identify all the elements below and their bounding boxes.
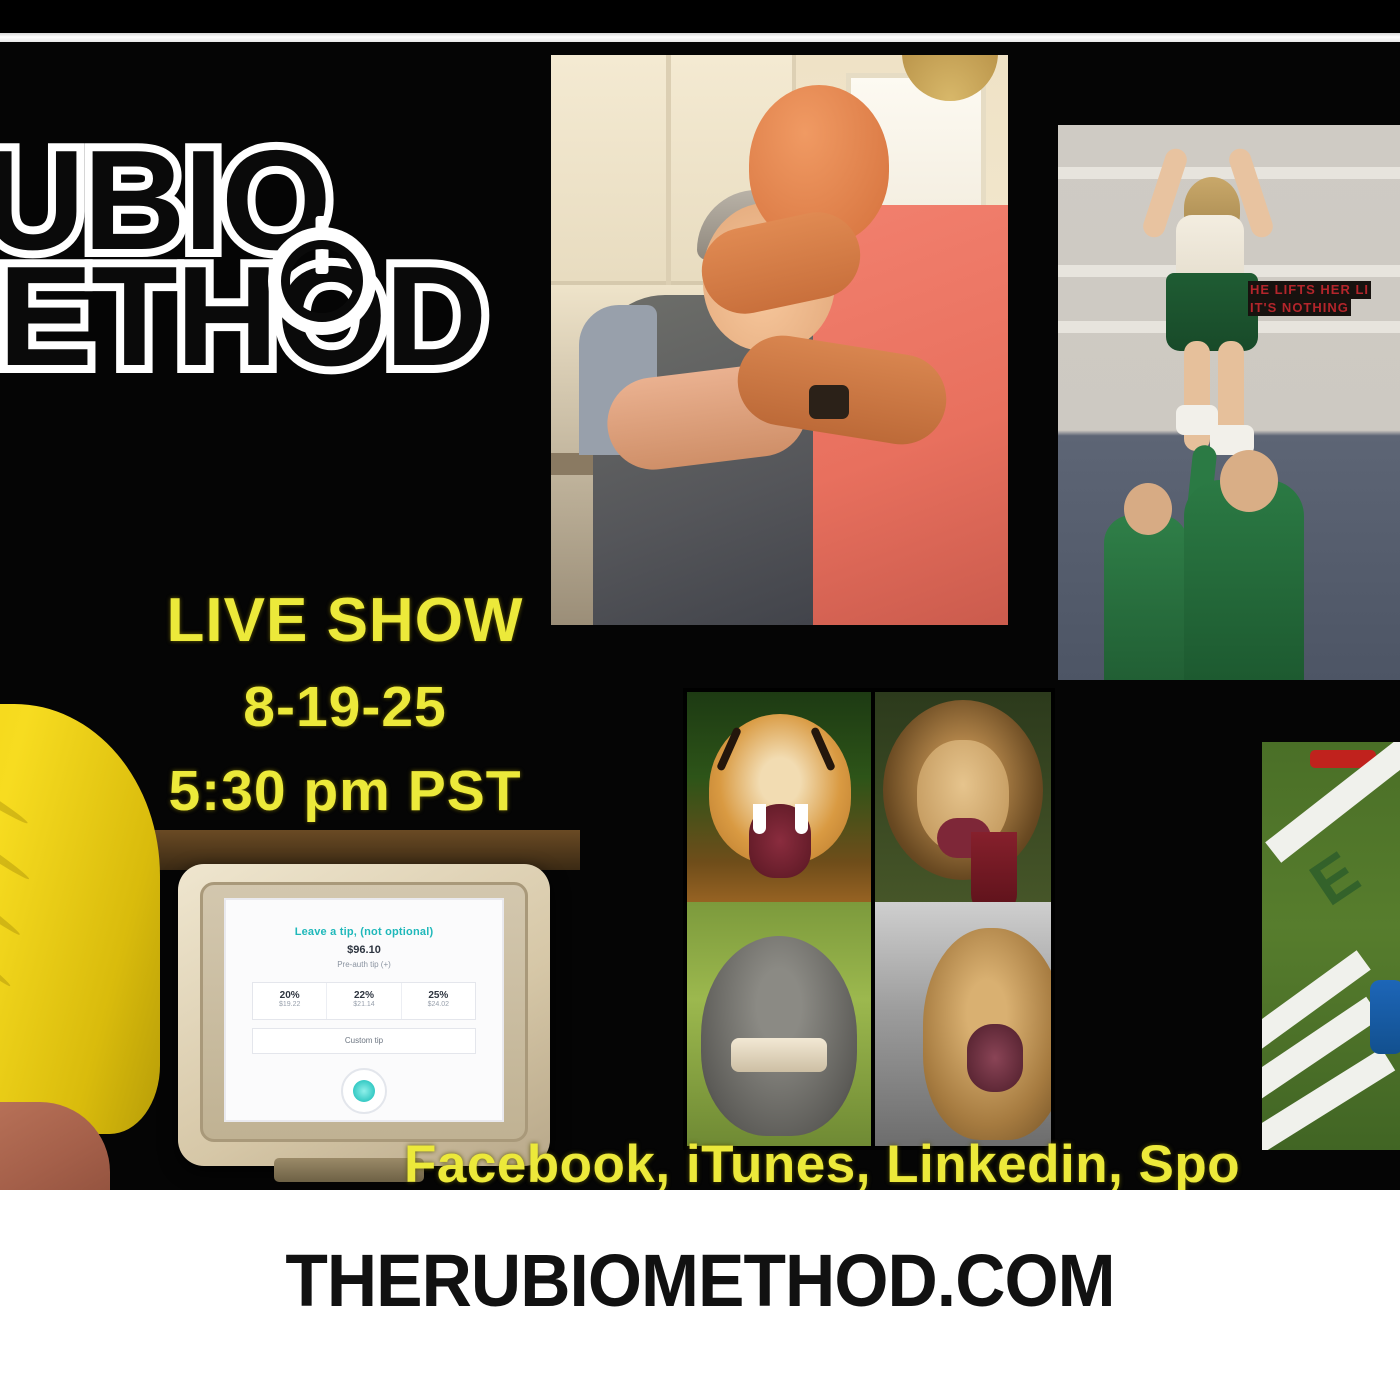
photo-man-hugging-woman xyxy=(551,55,1008,625)
platform-list-text: Facebook, iTunes, Linkedin, Spo xyxy=(404,1134,1240,1190)
photo-tiger-roaring xyxy=(687,692,871,936)
tip-screen-title: Leave a tip, (not optional) xyxy=(226,926,502,938)
power-symbol-inner-icon xyxy=(281,240,363,322)
photo-bear-roaring xyxy=(875,902,1051,1146)
tip-option-3[interactable]: 25% $24.02 xyxy=(402,983,475,1019)
announcement-line-1: LIVE SHOW xyxy=(110,590,580,652)
tip-option-3-value: $24.02 xyxy=(402,1001,475,1008)
tip-option-2-value: $21.14 xyxy=(327,1001,400,1008)
announcement-line-2: 8-19-25 xyxy=(110,679,580,736)
tip-screen-subtitle: Pre-auth tip (+) xyxy=(226,960,502,969)
tip-options-row: 20% $19.22 22% $21.14 25% $24.02 xyxy=(252,982,476,1020)
live-show-announcement: LIVE SHOW 8-19-25 5:30 pm PST xyxy=(110,590,580,820)
tip-option-3-percent: 25% xyxy=(402,990,475,1001)
website-url[interactable]: THERUBIOMETHOD.COM xyxy=(42,1238,1358,1323)
host-in-yellow-shirt xyxy=(0,704,180,1190)
podcast-cover-artwork: RUBIO METHOD xyxy=(0,0,1400,1400)
tip-option-2-percent: 22% xyxy=(327,990,400,1001)
caption-line-2: IT'S NOTHING xyxy=(1248,299,1351,317)
tip-option-1-percent: 20% xyxy=(253,990,326,1001)
cheer-photo-caption: HE LIFTS HER LI IT'S NOTHING xyxy=(1248,281,1398,316)
photo-cheerleading-stunt: HE LIFTS HER LI IT'S NOTHING xyxy=(1058,125,1400,680)
tip-option-1-value: $19.22 xyxy=(253,1001,326,1008)
announcement-line-3: 5:30 pm PST xyxy=(110,763,580,820)
payment-tablet-kiosk: Leave a tip, (not optional) $96.10 Pre-a… xyxy=(178,864,550,1166)
payment-app-logo-icon xyxy=(341,1068,387,1114)
top-divider-rule xyxy=(0,33,1400,42)
tip-option-1[interactable]: 20% $19.22 xyxy=(253,983,327,1019)
caption-line-1: HE LIFTS HER LI xyxy=(1248,281,1371,299)
artwork-board: RUBIO METHOD xyxy=(0,42,1400,1190)
photo-football-field: E xyxy=(1262,742,1400,1150)
photo-hippo-open-mouth xyxy=(687,902,871,1146)
kiosk-stand xyxy=(274,1158,424,1182)
tip-option-2[interactable]: 22% $21.14 xyxy=(327,983,401,1019)
tablet-screen[interactable]: Leave a tip, (not optional) $96.10 Pre-a… xyxy=(224,898,504,1122)
custom-tip-button[interactable]: Custom tip xyxy=(252,1028,476,1054)
website-banner: THERUBIOMETHOD.COM xyxy=(0,1190,1400,1400)
tip-screen-amount: $96.10 xyxy=(226,944,502,956)
photo-lion-bloody xyxy=(875,692,1051,936)
animal-collage xyxy=(683,688,1055,1150)
rubio-method-logo: RUBIO METHOD xyxy=(0,140,542,378)
